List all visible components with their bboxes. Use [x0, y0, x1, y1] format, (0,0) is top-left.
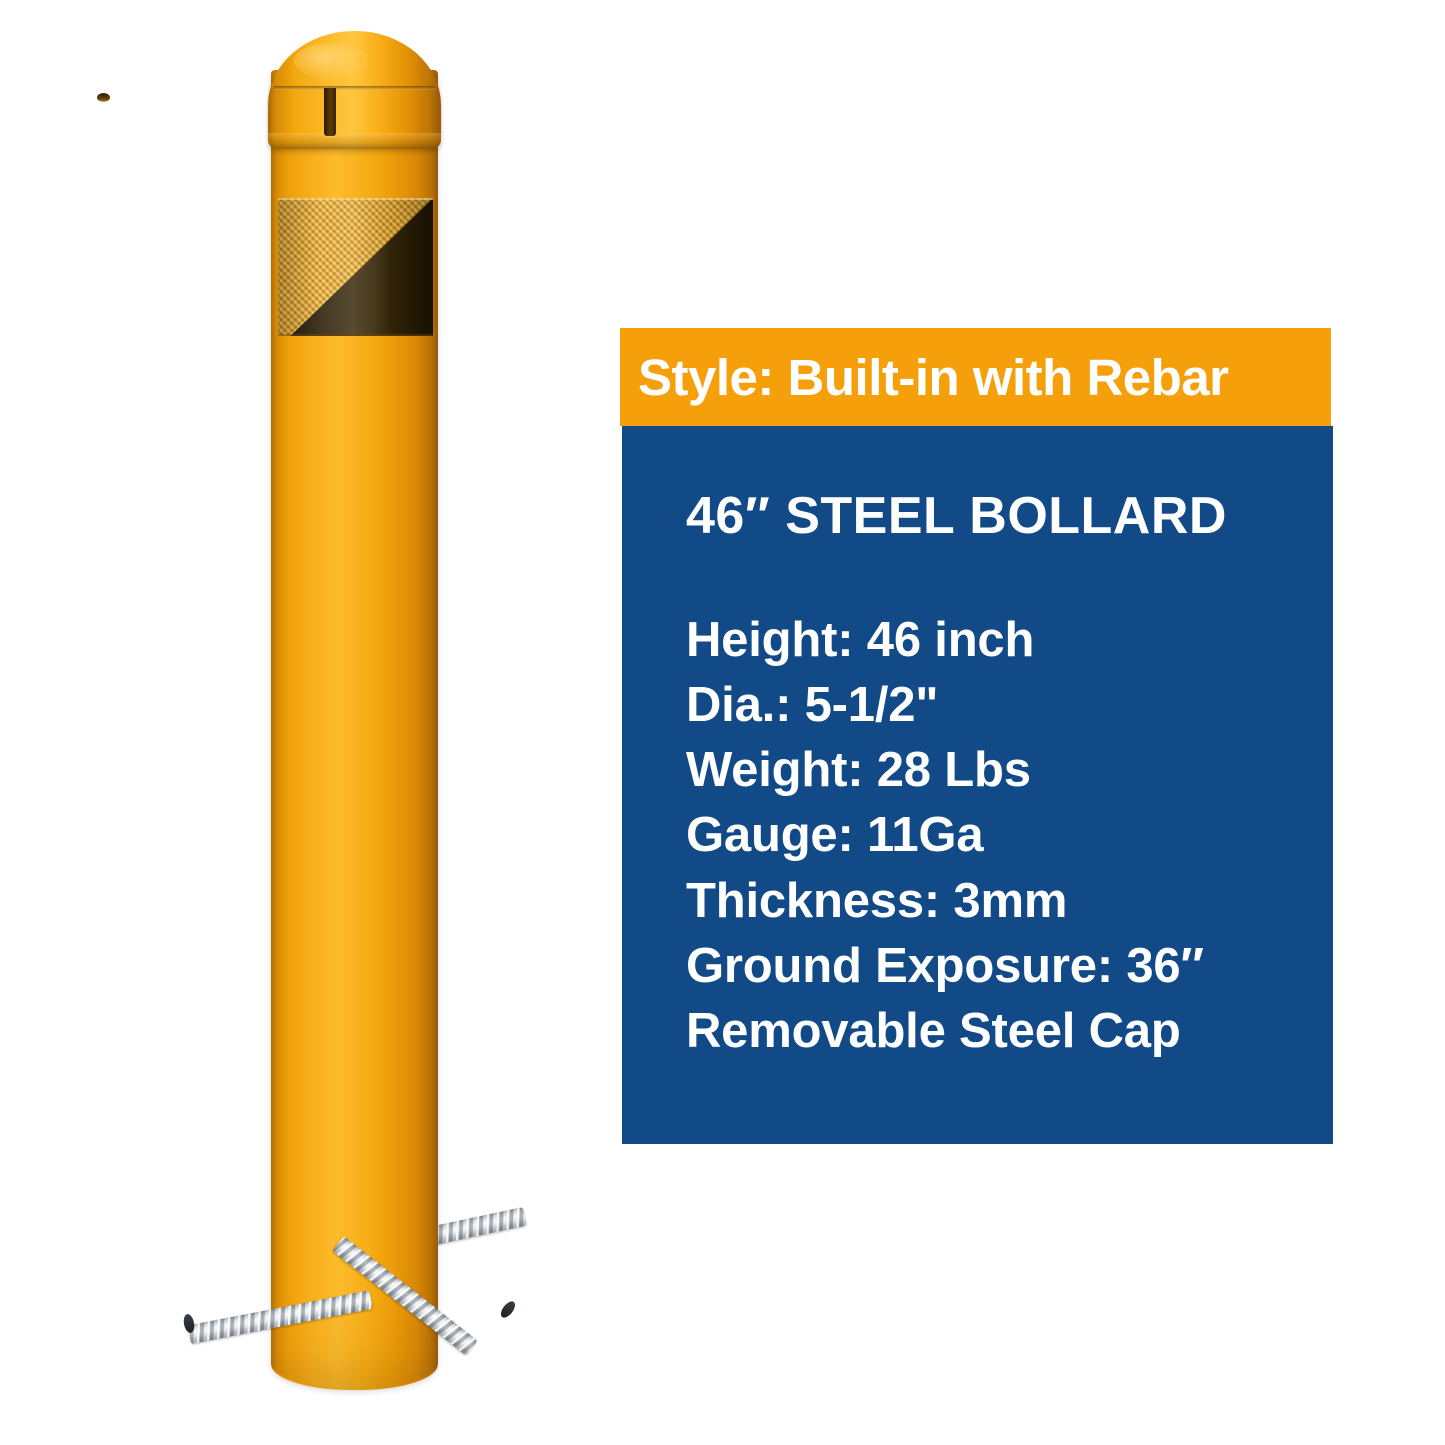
style-header-band: Style: Built-in with Rebar: [620, 328, 1331, 426]
product-title: 46″ STEEL BOLLARD: [686, 486, 1333, 546]
specification-list: Height: 46 inchDia.: 5-1/2"Weight: 28 Lb…: [686, 608, 1333, 1064]
info-panel: Style: Built-in with Rebar 46″ STEEL BOL…: [620, 328, 1333, 1144]
cap-specular-highlight: [294, 43, 368, 79]
cap-keyway-slot: [324, 88, 336, 136]
spec-line: Thickness: 3mm: [686, 869, 1333, 934]
cap-seam-line: [274, 86, 435, 90]
style-header-label: Style: Built-in with Rebar: [638, 348, 1229, 407]
spec-line: Ground Exposure: 36″: [686, 934, 1333, 999]
removable-steel-cap: [268, 31, 441, 149]
spec-line: Removable Steel Cap: [686, 999, 1333, 1064]
stripe-top-edge: [278, 198, 433, 200]
stripe-gloss-overlay: [278, 198, 433, 336]
spec-line: Gauge: 11Ga: [686, 803, 1333, 868]
spec-line: Dia.: 5-1/2": [686, 673, 1333, 738]
cap-lip: [268, 133, 441, 149]
spec-line: Height: 46 inch: [686, 608, 1333, 673]
cap-bolt-hole: [97, 93, 110, 102]
specification-panel: 46″ STEEL BOLLARD Height: 46 inchDia.: 5…: [622, 426, 1333, 1144]
spec-line: Weight: 28 Lbs: [686, 738, 1333, 803]
reflective-stripe: [278, 198, 433, 336]
product-photo: [0, 0, 600, 1445]
rebar-end-cap: [498, 1299, 518, 1320]
stripe-bottom-edge: [278, 334, 433, 336]
